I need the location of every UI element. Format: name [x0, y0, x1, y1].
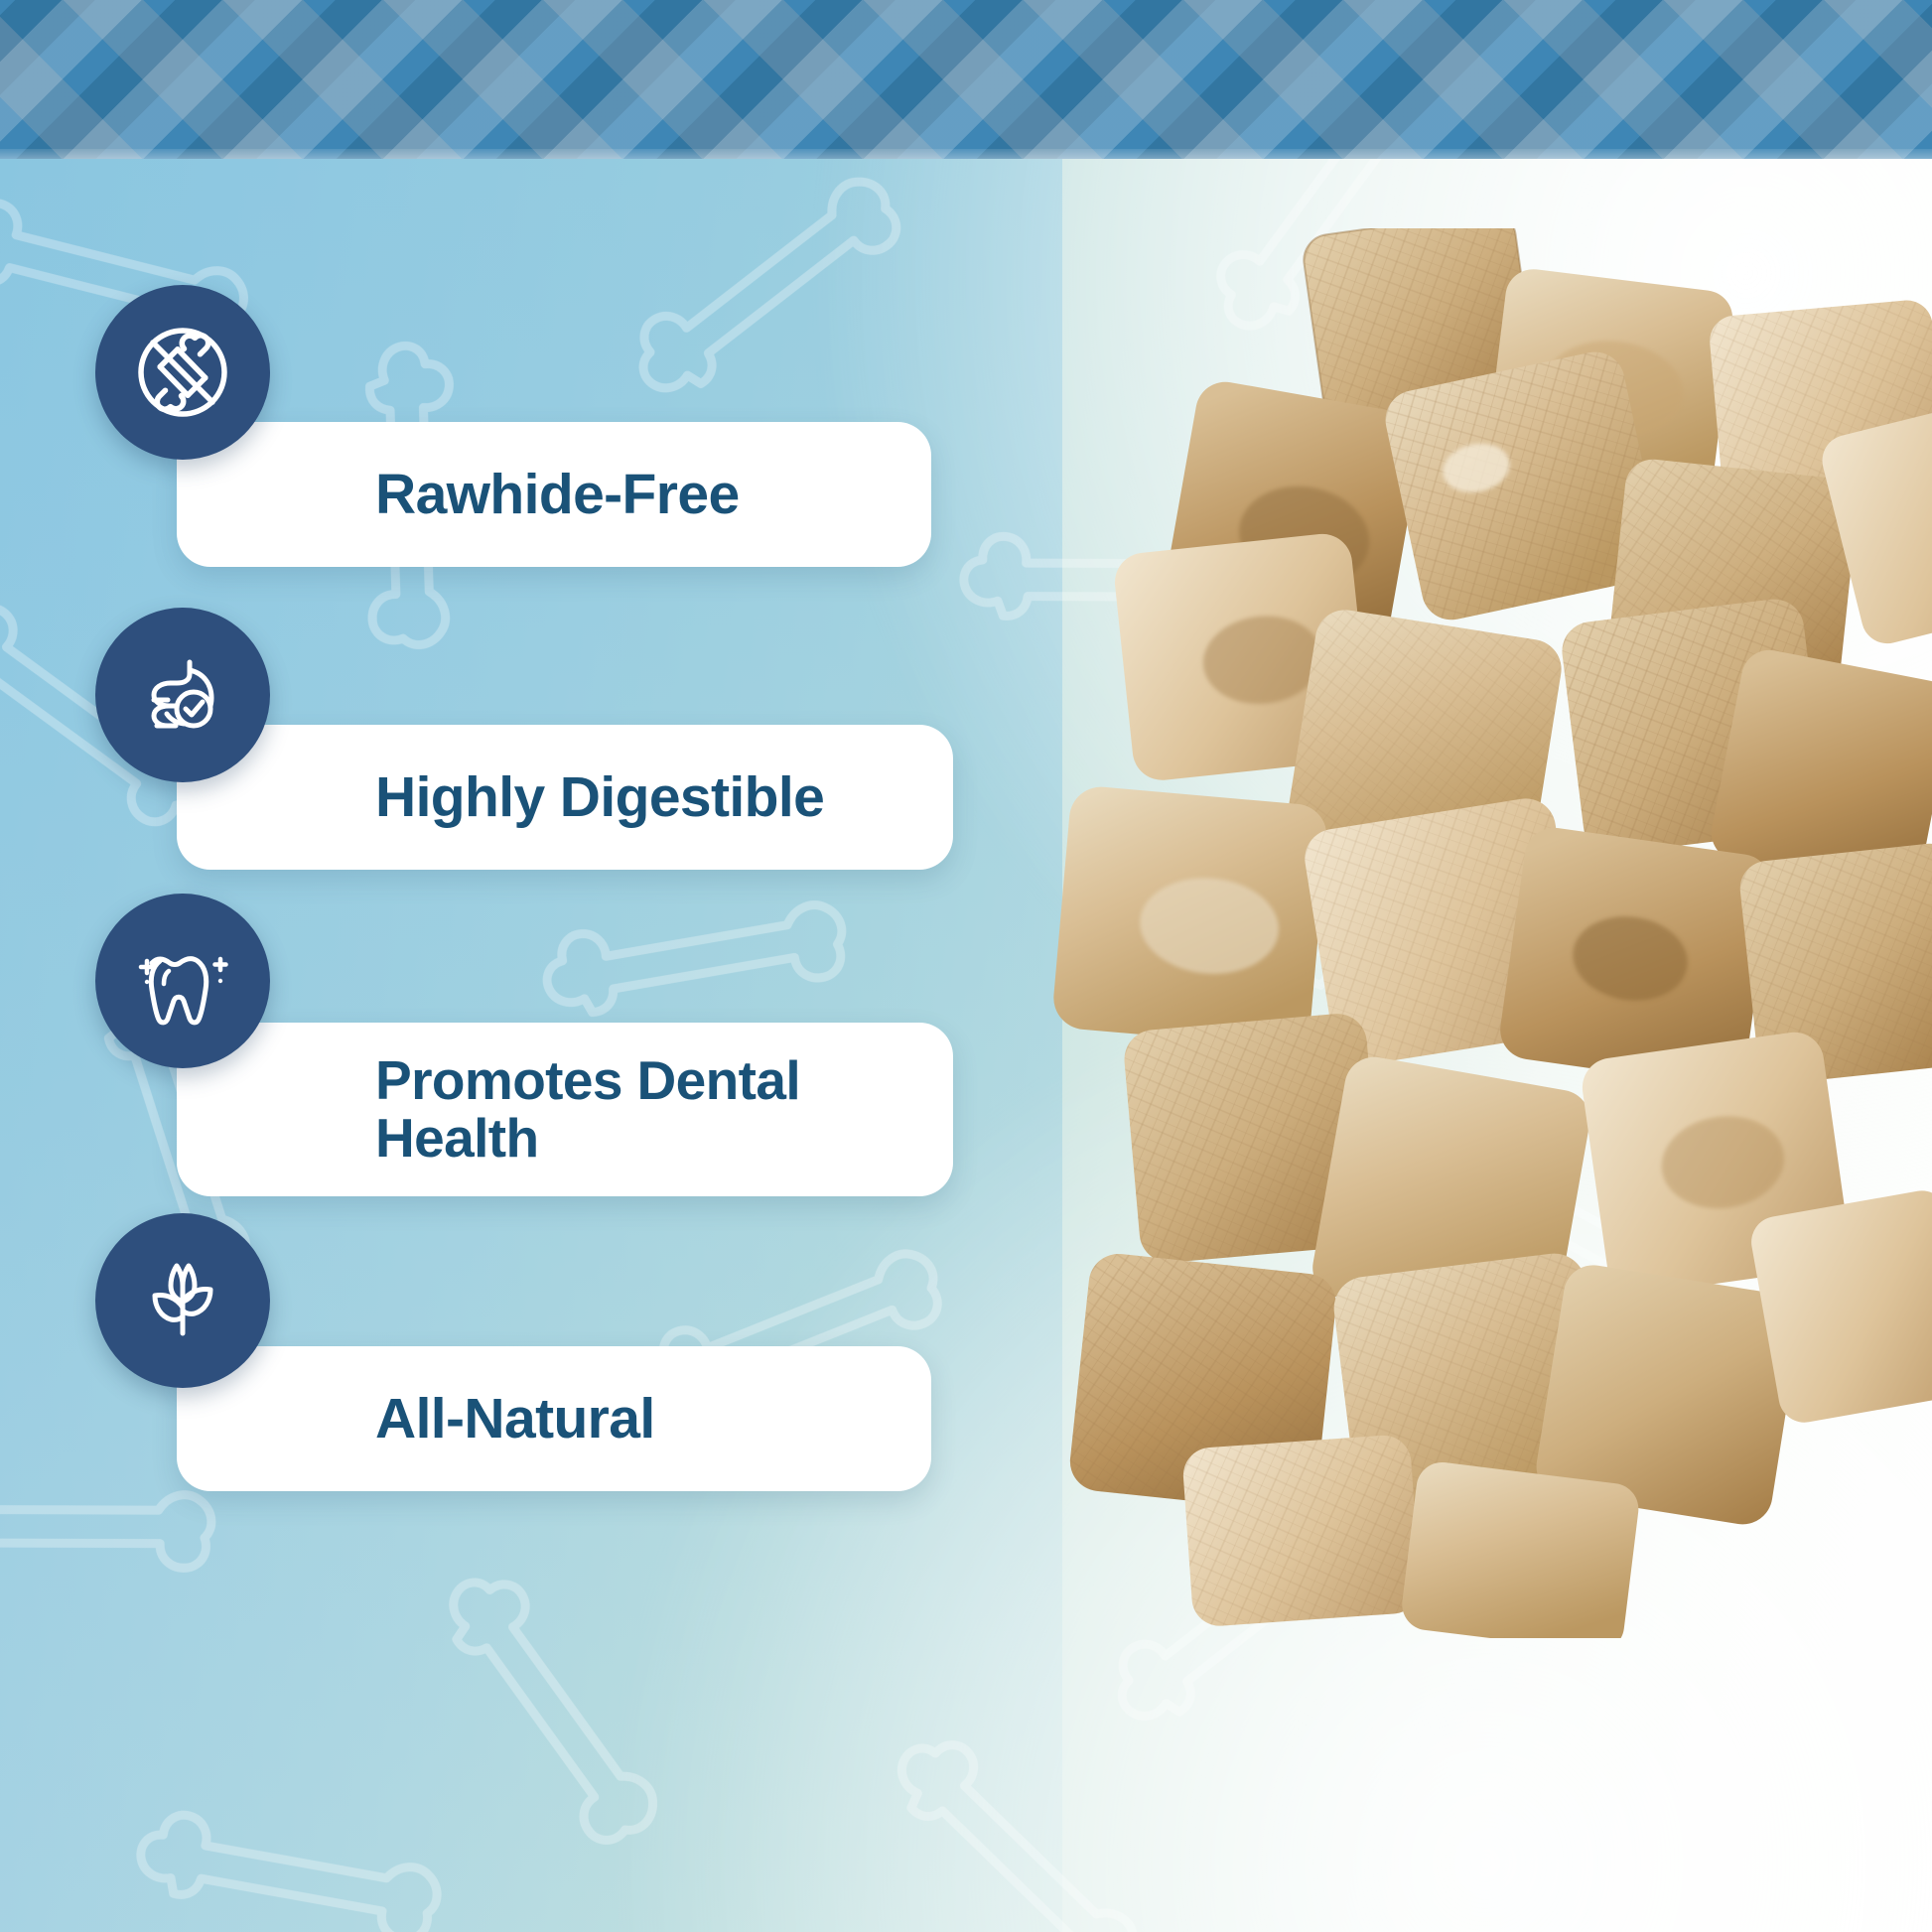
feature-label: Promotes Dental Health [375, 1052, 923, 1166]
feature-card: All-Natural [177, 1346, 931, 1491]
feature-list: Rawhide-Free [0, 0, 1042, 1932]
stomach-check-icon [95, 608, 270, 782]
feature-card: Highly Digestible [177, 725, 953, 870]
feature-infographic: Rawhide-Free [0, 0, 1932, 1932]
feature-card: Promotes Dental Health [177, 1023, 953, 1196]
product-photo [1052, 228, 1932, 1638]
feature-card: Rawhide-Free [177, 422, 931, 567]
sparkling-tooth-icon [95, 894, 270, 1068]
no-rawhide-bone-icon [95, 285, 270, 460]
feature-label: Highly Digestible [375, 767, 824, 827]
leaf-sprig-icon [95, 1213, 270, 1388]
feature-label: Rawhide-Free [375, 465, 740, 524]
feature-label: All-Natural [375, 1389, 655, 1449]
